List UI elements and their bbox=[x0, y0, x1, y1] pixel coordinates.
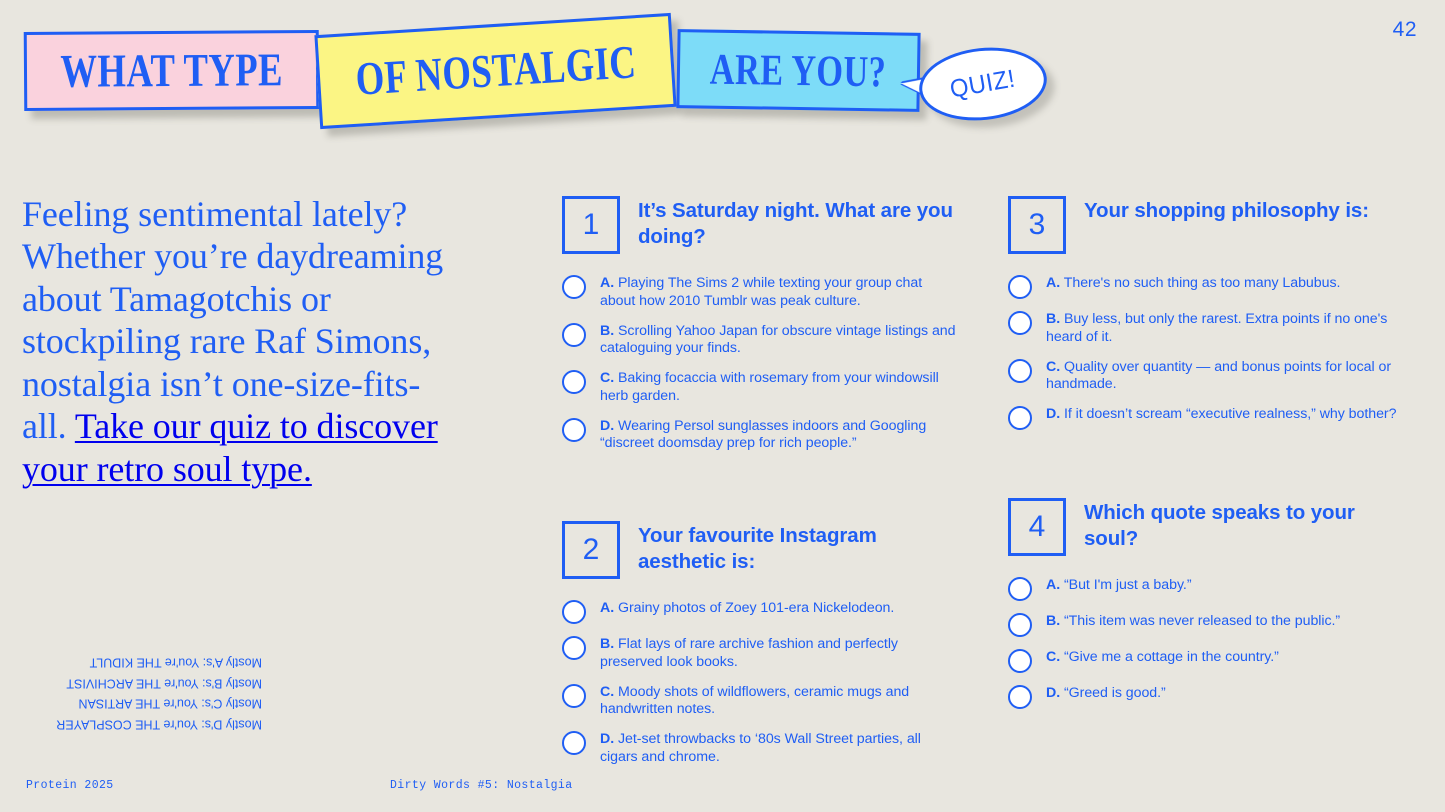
radio-button-4a[interactable] bbox=[1008, 577, 1032, 601]
question-2-number: 2 bbox=[562, 521, 620, 579]
option-2c-text: C. Moody shots of wildflowers, ceramic m… bbox=[600, 683, 957, 720]
question-3: 3 Your shopping philosophy is: A. There'… bbox=[1008, 196, 1403, 430]
option-body: Grainy photos of Zoey 101-era Nickelodeo… bbox=[618, 600, 894, 616]
question-2: 2 Your favourite Instagram aesthetic is:… bbox=[562, 521, 957, 767]
option-body: If it doesn’t scream “executive realness… bbox=[1064, 406, 1396, 422]
option-body: Playing The Sims 2 while texting your gr… bbox=[600, 275, 922, 309]
option-1d-text: D. Wearing Persol sunglasses indoors and… bbox=[600, 417, 957, 454]
footer-publisher: Protein 2025 bbox=[26, 779, 114, 792]
option-letter: D. bbox=[1046, 685, 1060, 701]
option-1a[interactable]: A. Playing The Sims 2 while texting your… bbox=[562, 274, 957, 311]
question-2-header: 2 Your favourite Instagram aesthetic is: bbox=[562, 521, 957, 579]
headline-band-of-nostalgic: OF NOSTALGIC bbox=[314, 13, 676, 129]
headline-band-of-nostalgic-label: OF NOSTALGIC bbox=[354, 35, 638, 107]
answer-key: Mostly D's: You're THE COSPLAYER Mostly … bbox=[22, 652, 262, 735]
option-body: “Give me a cottage in the country.” bbox=[1064, 649, 1279, 665]
option-letter: C. bbox=[600, 370, 614, 386]
footer-issue: Dirty Words #5: Nostalgia bbox=[390, 779, 573, 792]
option-letter: A. bbox=[1046, 577, 1060, 593]
option-1c[interactable]: C. Baking focaccia with rosemary from yo… bbox=[562, 369, 957, 406]
answer-key-row: Mostly A's: You're THE KIDULT bbox=[22, 652, 262, 673]
question-1: 1 It’s Saturday night. What are you doin… bbox=[562, 196, 957, 453]
quiz-column-right: 3 Your shopping philosophy is: A. There'… bbox=[1008, 196, 1403, 720]
speech-bubble-label: QUIZ! bbox=[948, 64, 1018, 104]
answer-key-row: Mostly B's: You're THE ARCHIVIST bbox=[22, 673, 262, 694]
option-4b-text: B. “This item was never released to the … bbox=[1046, 612, 1340, 631]
option-2b-text: B. Flat lays of rare archive fashion and… bbox=[600, 635, 957, 672]
option-body: “But I'm just a baby.” bbox=[1064, 577, 1192, 593]
option-3b[interactable]: B. Buy less, but only the rarest. Extra … bbox=[1008, 310, 1403, 347]
question-1-header: 1 It’s Saturday night. What are you doin… bbox=[562, 196, 957, 254]
option-body: Wearing Persol sunglasses indoors and Go… bbox=[600, 418, 926, 452]
option-letter: A. bbox=[600, 275, 614, 291]
question-4: 4 Which quote speaks to your soul? A. “B… bbox=[1008, 498, 1403, 709]
option-body: Buy less, but only the rarest. Extra poi… bbox=[1046, 311, 1387, 345]
question-1-title: It’s Saturday night. What are you doing? bbox=[638, 196, 957, 250]
option-4a-text: A. “But I'm just a baby.” bbox=[1046, 576, 1192, 595]
answer-key-row: Mostly C's: You're THE ARTISAN bbox=[22, 693, 262, 714]
radio-button-3a[interactable] bbox=[1008, 275, 1032, 299]
option-3a[interactable]: A. There's no such thing as too many Lab… bbox=[1008, 274, 1403, 299]
option-1c-text: C. Baking focaccia with rosemary from yo… bbox=[600, 369, 957, 406]
option-4c-text: C. “Give me a cottage in the country.” bbox=[1046, 648, 1279, 667]
option-body: Flat lays of rare archive fashion and pe… bbox=[600, 636, 898, 670]
radio-button-3d[interactable] bbox=[1008, 406, 1032, 430]
option-body: Baking focaccia with rosemary from your … bbox=[600, 370, 939, 404]
question-4-title: Which quote speaks to your soul? bbox=[1084, 498, 1403, 552]
option-2b[interactable]: B. Flat lays of rare archive fashion and… bbox=[562, 635, 957, 672]
headline-band-are-you: ARE YOU? bbox=[676, 29, 920, 112]
page-number: 42 bbox=[1393, 18, 1417, 42]
question-4-number: 4 bbox=[1008, 498, 1066, 556]
question-2-options: A. Grainy photos of Zoey 101-era Nickelo… bbox=[562, 599, 957, 767]
radio-button-2a[interactable] bbox=[562, 600, 586, 624]
radio-button-1c[interactable] bbox=[562, 370, 586, 394]
question-1-number: 1 bbox=[562, 196, 620, 254]
option-4c[interactable]: C. “Give me a cottage in the country.” bbox=[1008, 648, 1403, 673]
option-body: “This item was never released to the pub… bbox=[1064, 613, 1340, 629]
radio-button-2b[interactable] bbox=[562, 636, 586, 660]
option-2a[interactable]: A. Grainy photos of Zoey 101-era Nickelo… bbox=[562, 599, 957, 624]
option-2d-text: D. Jet-set throwbacks to ‘80s Wall Stree… bbox=[600, 730, 957, 767]
option-4b[interactable]: B. “This item was never released to the … bbox=[1008, 612, 1403, 637]
option-2a-text: A. Grainy photos of Zoey 101-era Nickelo… bbox=[600, 599, 894, 618]
intro-quiz-link[interactable]: Take our quiz to discover your retro sou… bbox=[22, 406, 438, 488]
option-body: Jet-set throwbacks to ‘80s Wall Street p… bbox=[600, 731, 921, 765]
option-3a-text: A. There's no such thing as too many Lab… bbox=[1046, 274, 1340, 293]
quiz-column-left: 1 It’s Saturday night. What are you doin… bbox=[562, 196, 957, 778]
option-letter: A. bbox=[1046, 275, 1060, 291]
quiz-page: 42 WHAT TYPE OF NOSTALGIC ARE YOU? QUIZ!… bbox=[0, 0, 1445, 812]
question-1-options: A. Playing The Sims 2 while texting your… bbox=[562, 274, 957, 453]
radio-button-4c[interactable] bbox=[1008, 649, 1032, 673]
option-letter: B. bbox=[1046, 311, 1060, 327]
radio-button-1a[interactable] bbox=[562, 275, 586, 299]
option-letter: B. bbox=[600, 636, 614, 652]
option-letter: D. bbox=[600, 418, 614, 434]
radio-button-3c[interactable] bbox=[1008, 359, 1032, 383]
option-2c[interactable]: C. Moody shots of wildflowers, ceramic m… bbox=[562, 683, 957, 720]
option-letter: C. bbox=[1046, 359, 1060, 375]
option-3b-text: B. Buy less, but only the rarest. Extra … bbox=[1046, 310, 1403, 347]
option-4a[interactable]: A. “But I'm just a baby.” bbox=[1008, 576, 1403, 601]
headline-band-what-type: WHAT TYPE bbox=[24, 30, 320, 111]
option-body: Quality over quantity — and bonus points… bbox=[1046, 359, 1391, 393]
answer-key-row: Mostly D's: You're THE COSPLAYER bbox=[22, 714, 262, 735]
option-letter: C. bbox=[1046, 649, 1060, 665]
headline-band-are-you-label: ARE YOU? bbox=[710, 44, 887, 98]
option-body: Moody shots of wildflowers, ceramic mugs… bbox=[600, 684, 909, 718]
radio-button-2c[interactable] bbox=[562, 684, 586, 708]
option-4d-text: D. “Greed is good.” bbox=[1046, 684, 1166, 703]
radio-button-4d[interactable] bbox=[1008, 685, 1032, 709]
option-1b[interactable]: B. Scrolling Yahoo Japan for obscure vin… bbox=[562, 322, 957, 359]
option-letter: D. bbox=[1046, 406, 1060, 422]
column-spacer bbox=[1008, 441, 1403, 498]
column-spacer bbox=[562, 464, 957, 521]
masthead: WHAT TYPE OF NOSTALGIC ARE YOU? QUIZ! bbox=[0, 0, 1100, 150]
radio-button-4b[interactable] bbox=[1008, 613, 1032, 637]
option-letter: B. bbox=[600, 323, 614, 339]
option-3c[interactable]: C. Quality over quantity — and bonus poi… bbox=[1008, 358, 1403, 395]
question-3-options: A. There's no such thing as too many Lab… bbox=[1008, 274, 1403, 430]
question-3-title: Your shopping philosophy is: bbox=[1084, 196, 1369, 224]
option-letter: B. bbox=[1046, 613, 1060, 629]
speech-bubble: QUIZ! bbox=[916, 42, 1051, 127]
option-1b-text: B. Scrolling Yahoo Japan for obscure vin… bbox=[600, 322, 957, 359]
option-3c-text: C. Quality over quantity — and bonus poi… bbox=[1046, 358, 1403, 395]
option-body: There's no such thing as too many Labubu… bbox=[1064, 275, 1341, 291]
question-4-options: A. “But I'm just a baby.” B. “This item … bbox=[1008, 576, 1403, 709]
question-3-number: 3 bbox=[1008, 196, 1066, 254]
option-letter: D. bbox=[600, 731, 614, 747]
radio-button-1d[interactable] bbox=[562, 418, 586, 442]
intro-paragraph: Feeling sentimental lately? Whether you’… bbox=[22, 193, 462, 490]
option-body: “Greed is good.” bbox=[1064, 685, 1166, 701]
option-letter: A. bbox=[600, 600, 614, 616]
option-letter: C. bbox=[600, 684, 614, 700]
radio-button-2d[interactable] bbox=[562, 731, 586, 755]
radio-button-1b[interactable] bbox=[562, 323, 586, 347]
question-2-title: Your favourite Instagram aesthetic is: bbox=[638, 521, 957, 575]
option-2d[interactable]: D. Jet-set throwbacks to ‘80s Wall Stree… bbox=[562, 730, 957, 767]
option-4d[interactable]: D. “Greed is good.” bbox=[1008, 684, 1403, 709]
option-3d-text: D. If it doesn’t scream “executive realn… bbox=[1046, 405, 1396, 424]
question-3-header: 3 Your shopping philosophy is: bbox=[1008, 196, 1403, 254]
radio-button-3b[interactable] bbox=[1008, 311, 1032, 335]
option-1d[interactable]: D. Wearing Persol sunglasses indoors and… bbox=[562, 417, 957, 454]
headline-band-what-type-label: WHAT TYPE bbox=[60, 43, 283, 99]
option-1a-text: A. Playing The Sims 2 while texting your… bbox=[600, 274, 957, 311]
option-3d[interactable]: D. If it doesn’t scream “executive realn… bbox=[1008, 405, 1403, 430]
question-4-header: 4 Which quote speaks to your soul? bbox=[1008, 498, 1403, 556]
option-body: Scrolling Yahoo Japan for obscure vintag… bbox=[600, 323, 956, 357]
